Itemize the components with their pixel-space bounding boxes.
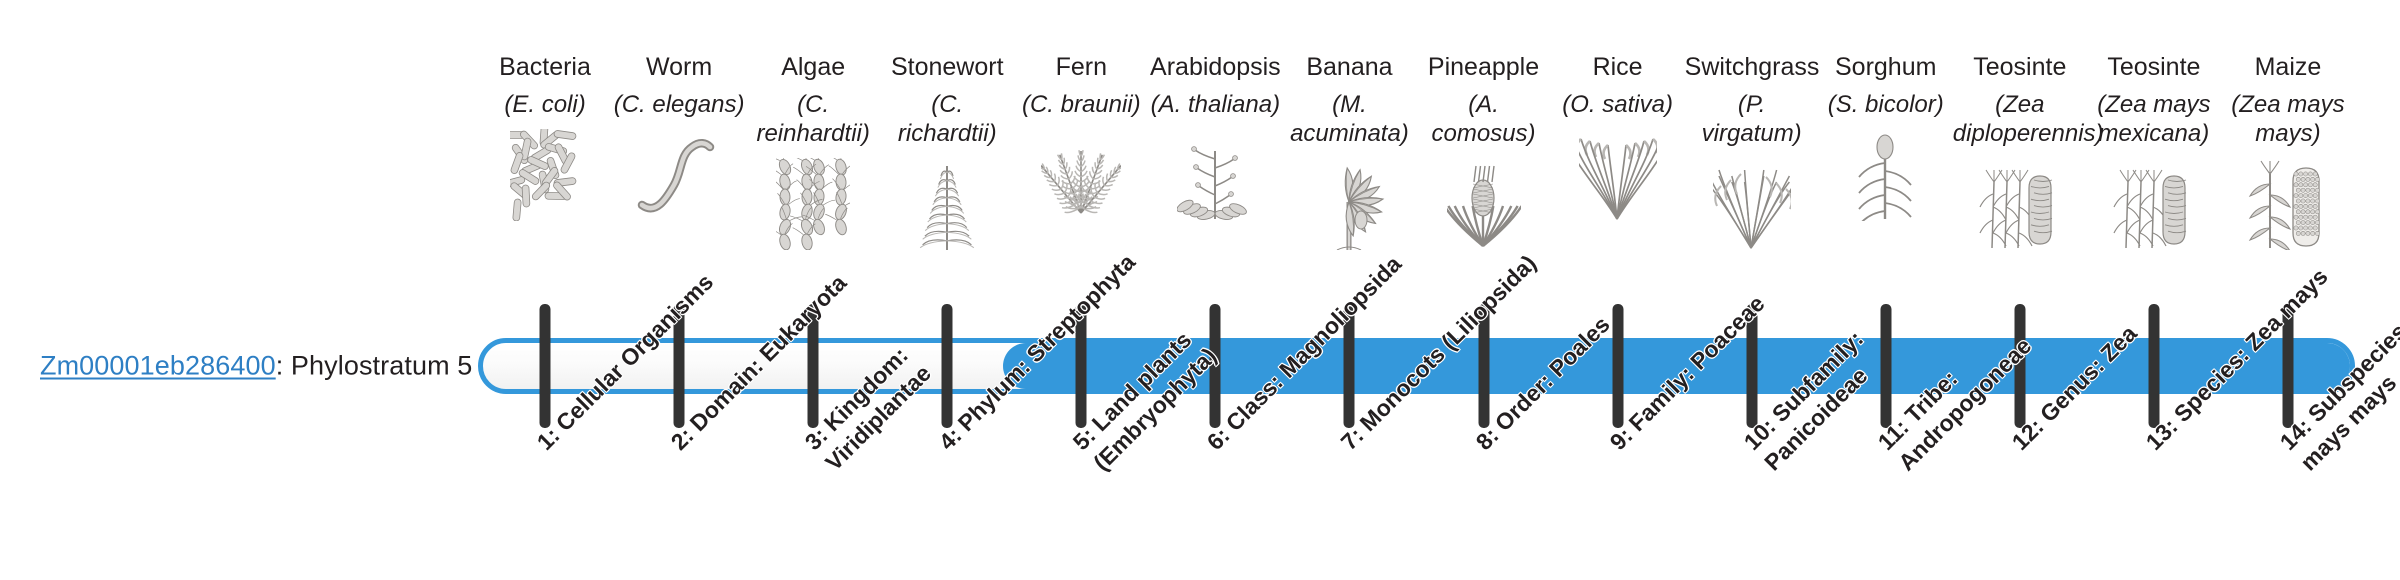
species-scientific-name: (C. braunii) — [1014, 90, 1148, 119]
species-common-name: Banana — [1282, 52, 1416, 82]
species-common-name: Bacteria — [478, 52, 612, 82]
phylostratum-value-text: Phylostratum 5 — [291, 351, 472, 381]
teosinte-plant-and-ear-icon — [2087, 154, 2221, 250]
maize-plant-and-cob-icon — [2221, 154, 2355, 250]
banana-tree-icon — [1282, 154, 1416, 250]
species-scientific-name: (Zea mays mexicana) — [2087, 90, 2221, 148]
species-scientific-name: (A. comosus) — [1417, 90, 1551, 148]
species-scientific-name: (Zea mays mays) — [2221, 90, 2355, 148]
species-column-algae: Algae(C. reinhardtii) — [746, 52, 880, 250]
species-column-fern: Fern(C. braunii) — [1014, 52, 1148, 221]
species-scientific-name: (M. acuminata) — [1282, 90, 1416, 148]
species-common-name: Teosinte — [2087, 52, 2221, 82]
species-scientific-name: (C. richardtii) — [880, 90, 1014, 148]
species-common-name: Switchgrass — [1685, 52, 1819, 82]
green-algae-cells-icon — [746, 154, 880, 250]
gene-phylostratum-label: Zm00001eb286400: Phylostratum 5 — [40, 351, 472, 382]
species-scientific-name: (S. bicolor) — [1819, 90, 1953, 119]
species-column-rice: Rice(O. sativa) — [1551, 52, 1685, 221]
species-column-maize: Maize(Zea mays mays) — [2221, 52, 2355, 250]
species-column-pineapple: Pineapple(A. comosus) — [1417, 52, 1551, 250]
species-column-bacteria: Bacteria(E. coli) — [478, 52, 612, 221]
species-column-banana: Banana(M. acuminata) — [1282, 52, 1416, 250]
species-common-name: Pineapple — [1417, 52, 1551, 82]
species-column-arabidopsis: Arabidopsis(A. thaliana) — [1148, 52, 1282, 221]
switchgrass-clump-icon — [1685, 154, 1819, 250]
species-common-name: Rice — [1551, 52, 1685, 82]
species-column-worm: Worm(C. elegans) — [612, 52, 746, 221]
gene-label-separator: : — [276, 351, 291, 381]
species-column-sorghum: Sorghum(S. bicolor) — [1819, 52, 1953, 221]
stratum-tick-1 — [540, 304, 551, 428]
gene-id-link[interactable]: Zm00001eb286400 — [40, 351, 276, 381]
species-column-teosinte: Teosinte(Zea diploperennis) — [1953, 52, 2087, 250]
arabidopsis-rosette-icon — [1148, 125, 1282, 221]
bacteria-rods-icon — [478, 125, 612, 221]
species-scientific-name: (C. reinhardtii) — [746, 90, 880, 148]
species-column-teosinte: Teosinte(Zea mays mexicana) — [2087, 52, 2221, 250]
teosinte-plant-and-ear-icon — [1953, 154, 2087, 250]
species-common-name: Fern — [1014, 52, 1148, 82]
species-common-name: Maize — [2221, 52, 2355, 82]
species-scientific-name: (O. sativa) — [1551, 90, 1685, 119]
species-header-row: Bacteria(E. coli)Worm(C. elegans) Algae(… — [0, 0, 2400, 310]
species-common-name: Teosinte — [1953, 52, 2087, 82]
species-column-stonewort: Stonewort(C. richardtii) — [880, 52, 1014, 250]
stonewort-alga-icon — [880, 154, 1014, 250]
species-common-name: Arabidopsis — [1148, 52, 1282, 82]
species-common-name: Stonewort — [880, 52, 1014, 82]
phylostratum-figure: Zm00001eb286400: Phylostratum 5 Bacteria… — [0, 0, 2400, 580]
species-common-name: Sorghum — [1819, 52, 1953, 82]
species-scientific-name: (E. coli) — [478, 90, 612, 119]
species-scientific-name: (P. virgatum) — [1685, 90, 1819, 148]
sorghum-plant-icon — [1819, 125, 1953, 221]
species-column-switchgrass: Switchgrass(P. virgatum) — [1685, 52, 1819, 250]
species-common-name: Worm — [612, 52, 746, 82]
species-scientific-name: (C. elegans) — [612, 90, 746, 119]
nematode-worm-icon — [612, 125, 746, 221]
pineapple-plant-icon — [1417, 154, 1551, 250]
species-scientific-name: (Zea diploperennis) — [1953, 90, 2087, 148]
rice-plant-icon — [1551, 125, 1685, 221]
species-scientific-name: (A. thaliana) — [1148, 90, 1282, 119]
fern-frond-icon — [1014, 125, 1148, 221]
species-common-name: Algae — [746, 52, 880, 82]
